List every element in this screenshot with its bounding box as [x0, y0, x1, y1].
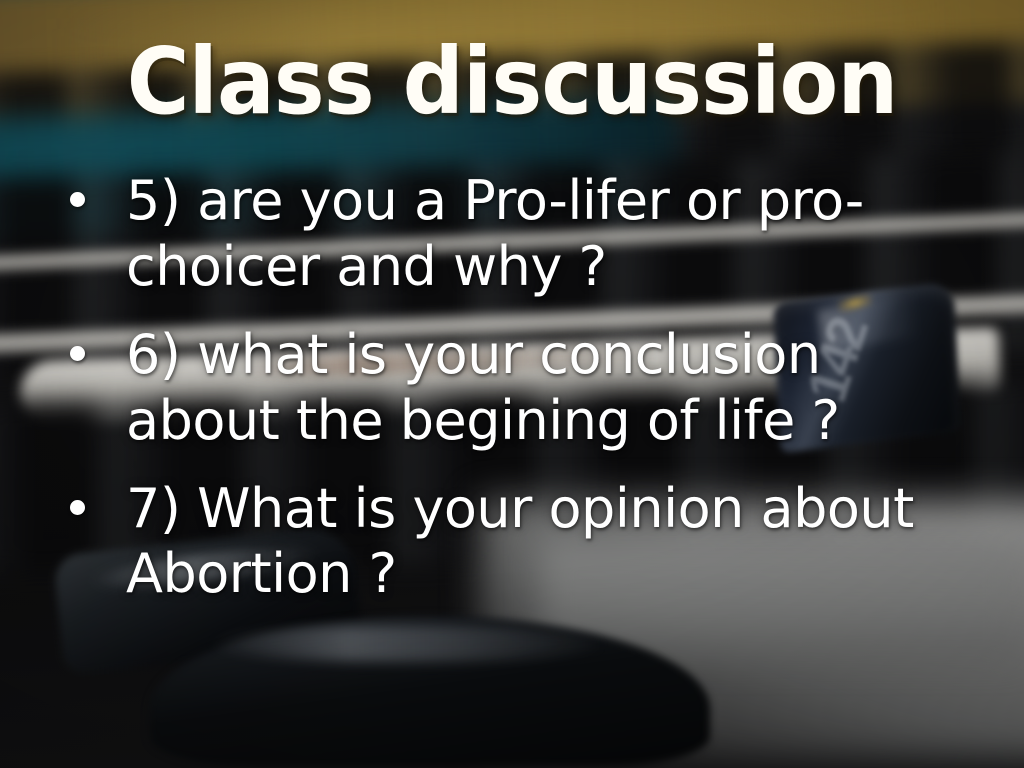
bullet-text: 5) are you a Pro-lifer or pro- choicer a…	[126, 168, 926, 300]
list-item: 6) what is your conclusion about the beg…	[58, 322, 984, 454]
list-item: 7) What is your opinion about Abortion ?	[58, 476, 984, 608]
presentation-slide: 142 Class discussion 5) are you a Pro-li…	[0, 0, 1024, 768]
bullet-text: 6) what is your conclusion about the beg…	[126, 322, 926, 454]
slide-content: Class discussion 5) are you a Pro-lifer …	[0, 0, 1024, 768]
bullet-text: 7) What is your opinion about Abortion ?	[126, 476, 926, 608]
slide-title: Class discussion	[36, 36, 988, 128]
bullet-dot-icon	[70, 192, 85, 207]
bullet-dot-icon	[70, 500, 85, 515]
bullet-list: 5) are you a Pro-lifer or pro- choicer a…	[58, 168, 984, 629]
bullet-dot-icon	[70, 346, 85, 361]
list-item: 5) are you a Pro-lifer or pro- choicer a…	[58, 168, 984, 300]
